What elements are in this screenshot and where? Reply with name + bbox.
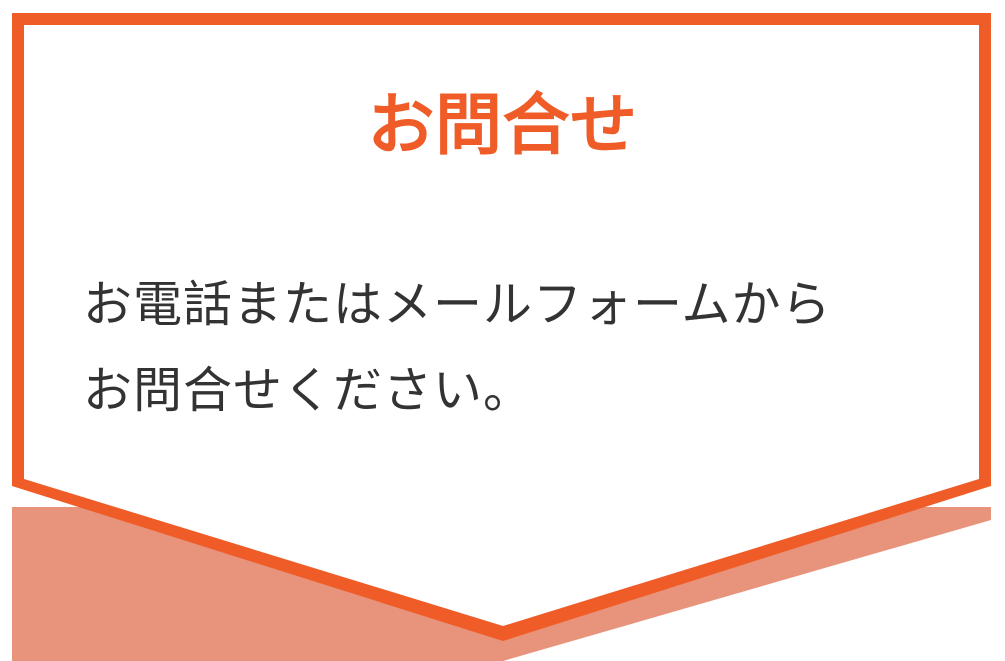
- banner-text-layer: お問合せ お電話またはメールフォームから お問合せください。: [0, 0, 1005, 661]
- contact-description-line-2: お問合せください。: [83, 348, 943, 434]
- contact-description: お電話またはメールフォームから お問合せください。: [83, 262, 943, 434]
- contact-banner: お問合せ お電話またはメールフォームから お問合せください。: [0, 0, 1005, 661]
- contact-heading: お問合せ: [0, 92, 1005, 159]
- contact-description-line-1: お電話またはメールフォームから: [83, 262, 943, 348]
